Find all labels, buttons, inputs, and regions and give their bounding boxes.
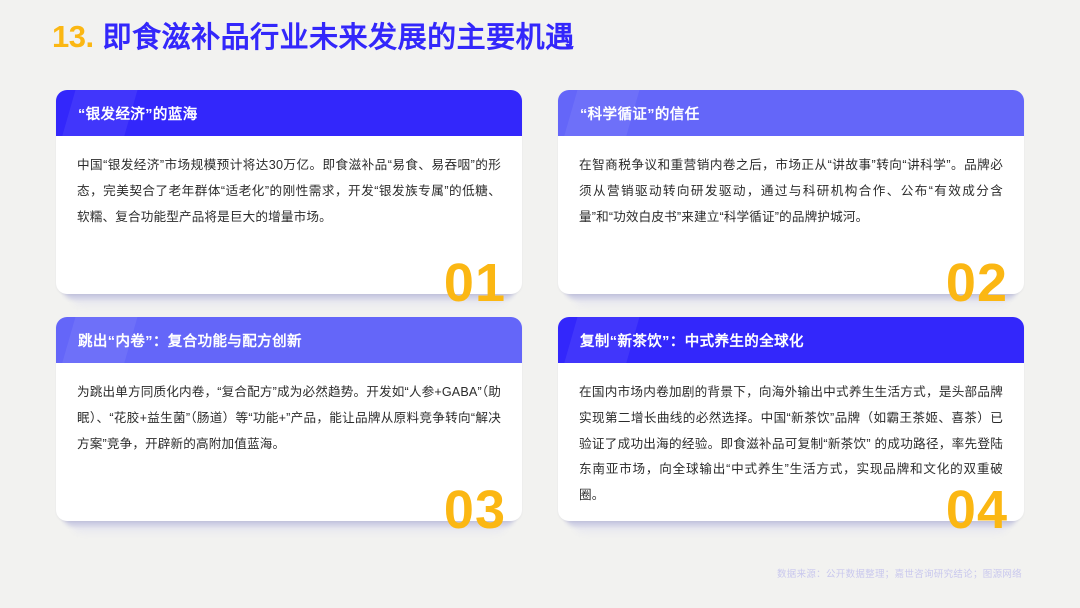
card-index-number: 02 — [946, 256, 1008, 310]
page-title: 13. 即食滋补品行业未来发展的主要机遇 — [52, 14, 575, 56]
card-header: 跳出“内卷”：复合功能与配方创新 — [56, 317, 522, 363]
source-footnote: 数据来源：公开数据整理；嘉世咨询研究结论；图源网络 — [777, 566, 1022, 580]
card-title: 复制“新茶饮”：中式养生的全球化 — [580, 330, 804, 351]
card-index-number: 04 — [946, 483, 1008, 537]
slide-root: 13. 即食滋补品行业未来发展的主要机遇 “银发经济”的蓝海 中国“银发经济”市… — [0, 0, 1080, 608]
card-body-text: 中国“银发经济”市场规模预计将达30万亿。即食滋补品“易食、易吞咽”的形态，完美… — [77, 153, 501, 230]
card-body-text: 为跳出单方同质化内卷，“复合配方”成为必然趋势。开发如“人参+GABA”（助眠）… — [77, 380, 501, 457]
card-body-text: 在国内市场内卷加剧的背景下，向海外输出中式养生生活方式，是头部品牌实现第二增长曲… — [579, 380, 1003, 509]
card-title: “银发经济”的蓝海 — [78, 103, 198, 124]
opportunity-card-04[interactable]: 复制“新茶饮”：中式养生的全球化 在国内市场内卷加剧的背景下，向海外输出中式养生… — [558, 317, 1024, 521]
card-header: “银发经济”的蓝海 — [56, 90, 522, 136]
card-body: 中国“银发经济”市场规模预计将达30万亿。即食滋补品“易食、易吞咽”的形态，完美… — [56, 136, 522, 230]
opportunity-card-01[interactable]: “银发经济”的蓝海 中国“银发经济”市场规模预计将达30万亿。即食滋补品“易食、… — [56, 90, 522, 294]
page-title-text: 即食滋补品行业未来发展的主要机遇 — [103, 14, 575, 56]
card-body-text: 在智商税争议和重营销内卷之后，市场正从“讲故事”转向“讲科学”。品牌必须从营销驱… — [579, 153, 1003, 230]
card-title: 跳出“内卷”：复合功能与配方创新 — [78, 330, 302, 351]
opportunity-card-grid: “银发经济”的蓝海 中国“银发经济”市场规模预计将达30万亿。即食滋补品“易食、… — [56, 90, 1024, 521]
card-index-number: 01 — [444, 256, 506, 310]
opportunity-card-03[interactable]: 跳出“内卷”：复合功能与配方创新 为跳出单方同质化内卷，“复合配方”成为必然趋势… — [56, 317, 522, 521]
card-header: 复制“新茶饮”：中式养生的全球化 — [558, 317, 1024, 363]
page-title-number: 13. — [52, 19, 94, 55]
opportunity-card-02[interactable]: “科学循证”的信任 在智商税争议和重营销内卷之后，市场正从“讲故事”转向“讲科学… — [558, 90, 1024, 294]
card-body: 为跳出单方同质化内卷，“复合配方”成为必然趋势。开发如“人参+GABA”（助眠）… — [56, 363, 522, 457]
card-index-number: 03 — [444, 483, 506, 537]
card-header: “科学循证”的信任 — [558, 90, 1024, 136]
card-body: 在智商税争议和重营销内卷之后，市场正从“讲故事”转向“讲科学”。品牌必须从营销驱… — [558, 136, 1024, 230]
card-title: “科学循证”的信任 — [580, 103, 700, 124]
